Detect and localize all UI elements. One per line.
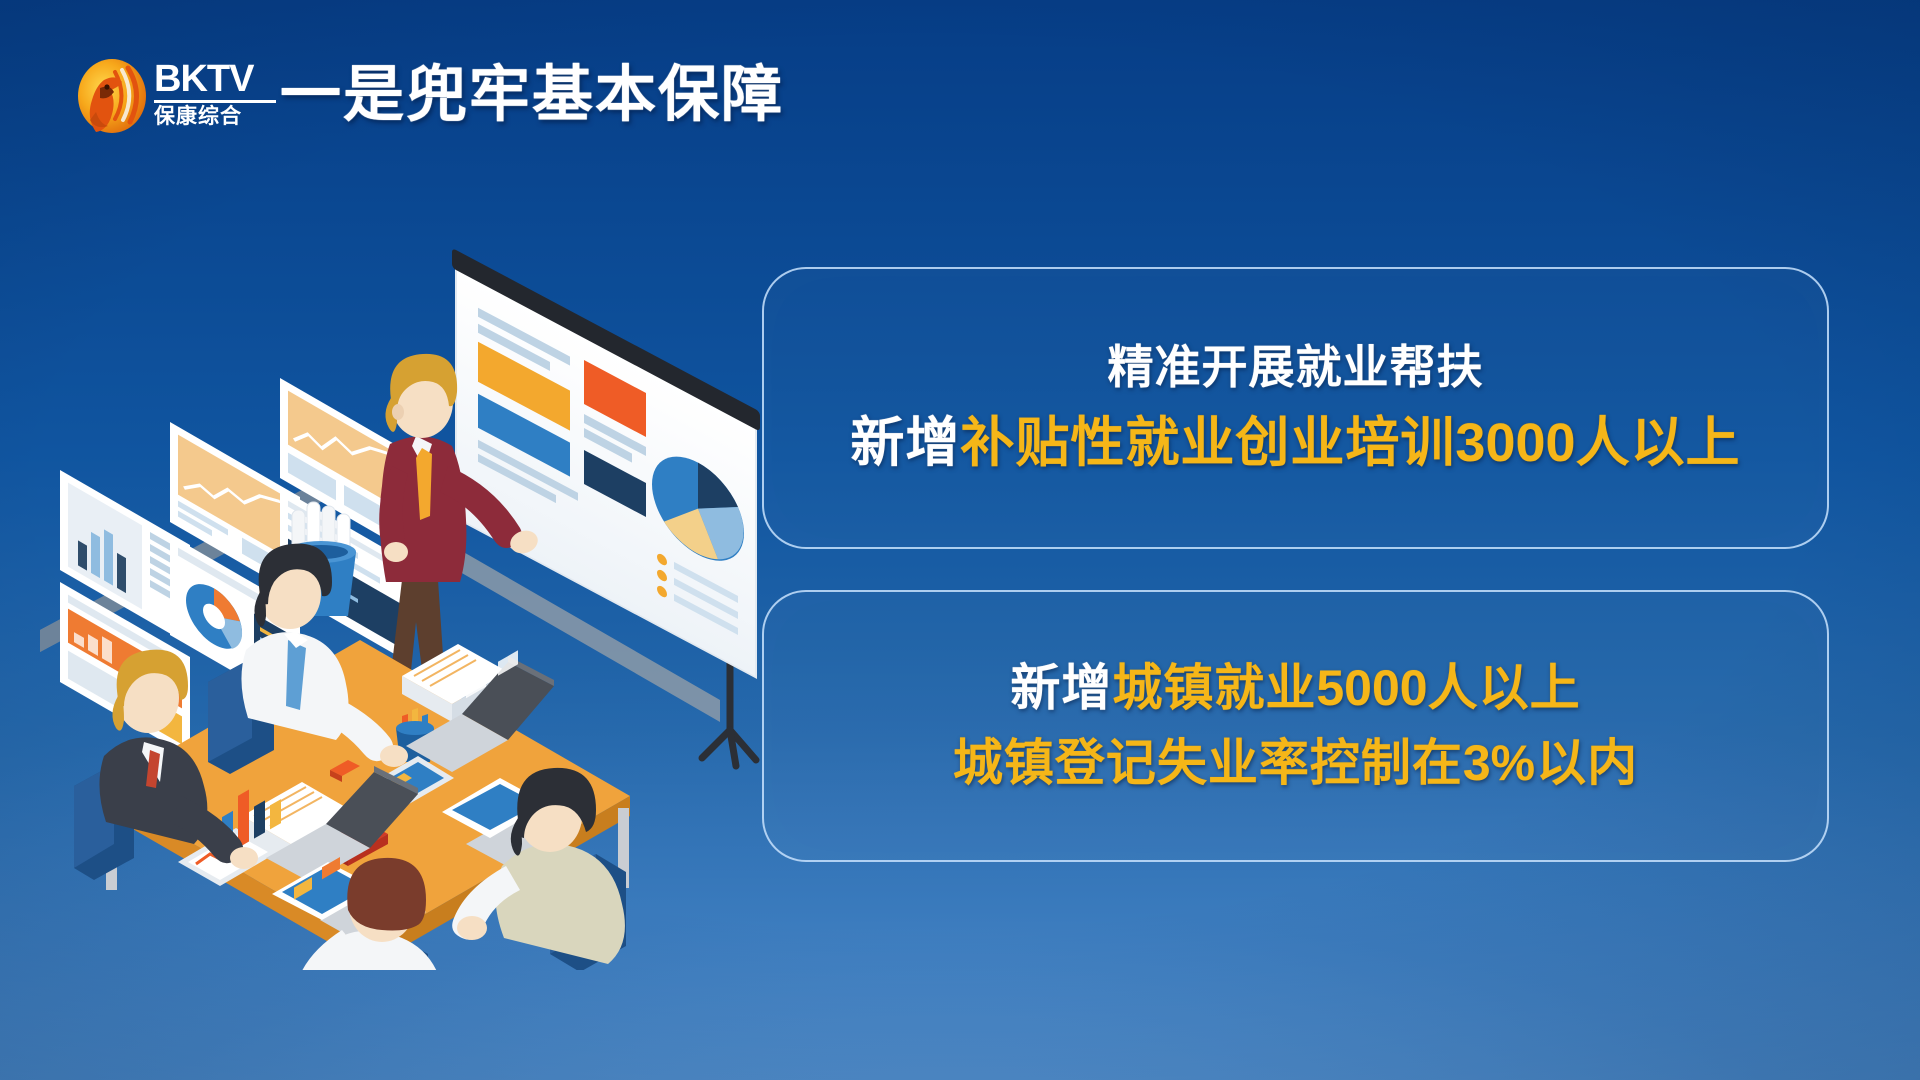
slide-stage: BKTV 保康综合 一是兜牢基本保障 精准开展就业帮扶 新增补贴性就业创业培训3… (0, 0, 1920, 1080)
logo-chinese-text: 保康综合 (154, 106, 276, 127)
card-1-headline-text: 精准开展就业帮扶 (1108, 341, 1484, 393)
channel-logo: BKTV 保康综合 (74, 48, 276, 140)
card-1-seg-suffix: 人以上 (1576, 413, 1741, 473)
urban-employment-card: 新增城镇就业5000人以上 城镇登记失业率控制在3%以内 (762, 590, 1829, 862)
logo-wordmark: BKTV 保康综合 (154, 54, 276, 134)
card-2-line2-seg-number: 3 (1463, 735, 1491, 791)
card-2-line2-seg-suffix: %以内 (1491, 735, 1638, 791)
page-title: 一是兜牢基本保障 (280, 64, 784, 125)
card-1-seg-number: 3000 (1455, 413, 1575, 473)
isometric-business-meeting-illustration (30, 230, 850, 970)
card-2-line-2: 城镇登记失业率控制在3%以内 (953, 733, 1638, 794)
card-2-line2-seg-subject: 城镇登记失业率控制在 (953, 735, 1463, 791)
card-1-detail: 新增补贴性就业创业培训3000人以上 (850, 411, 1740, 477)
employment-assistance-card: 精准开展就业帮扶 新增补贴性就业创业培训3000人以上 (762, 267, 1829, 549)
logo-divider (154, 100, 276, 103)
logo-latin-text: BKTV (154, 61, 276, 97)
card-2-seg-subject: 城镇就业 (1112, 660, 1316, 716)
slide-header: BKTV 保康综合 一是兜牢基本保障 (74, 48, 784, 140)
card-2-seg-new: 新增 (1010, 660, 1112, 716)
bktv-phoenix-logo-icon (74, 54, 150, 134)
card-1-headline: 精准开展就业帮扶 (1108, 339, 1484, 395)
card-1-seg-new: 新增 (850, 413, 960, 473)
card-2-seg-suffix: 人以上 (1428, 660, 1581, 716)
card-2-seg-number: 5000 (1316, 660, 1427, 716)
card-1-seg-subject: 补贴性就业创业培训 (960, 413, 1455, 473)
card-2-line-1: 新增城镇就业5000人以上 (1010, 658, 1580, 719)
